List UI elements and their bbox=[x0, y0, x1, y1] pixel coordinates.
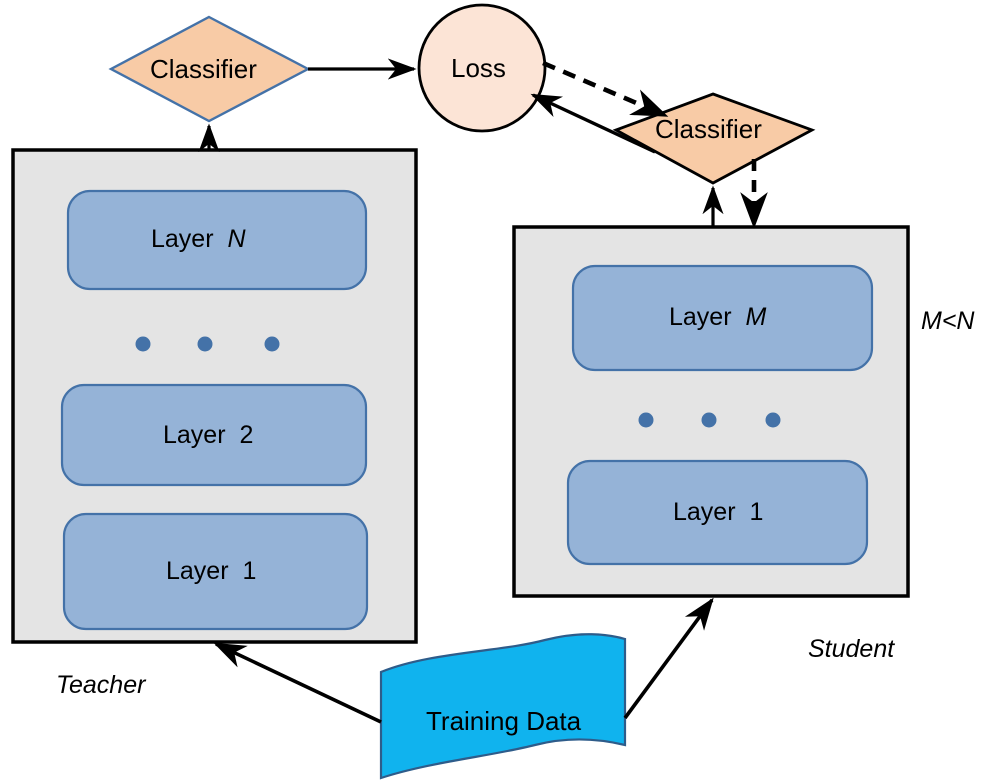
teacher-layer-label-N: LayerN bbox=[151, 227, 246, 252]
student-layer-name-M: Layer bbox=[669, 303, 732, 331]
teacher-layer-index-2: 2 bbox=[240, 421, 254, 449]
teacher-ellipsis-dot-2 bbox=[198, 337, 213, 352]
student-layer-index-1: 1 bbox=[750, 498, 764, 526]
teacher-layer-label-2: Layer2 bbox=[163, 423, 253, 448]
teacher-layer-name-N: Layer bbox=[151, 225, 214, 253]
teacher-ellipsis-dot-1 bbox=[136, 337, 151, 352]
diagram-canvas: Classifier Loss Classifier LayerN Layer2… bbox=[0, 0, 984, 782]
arrow-data-to-teacher bbox=[216, 644, 381, 722]
student-layer-name-1: Layer bbox=[673, 498, 736, 526]
arrow-data-to-student bbox=[625, 600, 712, 718]
student-ellipsis-dot-3 bbox=[766, 413, 781, 428]
student-ellipsis-dot-2 bbox=[702, 413, 717, 428]
training-data-label: Training Data bbox=[426, 708, 581, 734]
teacher-layer-label-1: Layer1 bbox=[166, 559, 256, 584]
teacher-layer-index-1: 1 bbox=[243, 557, 257, 585]
teacher-layer-name-1: Layer bbox=[166, 557, 229, 585]
teacher-name-label: Teacher bbox=[56, 673, 145, 698]
teacher-ellipsis-dot-3 bbox=[265, 337, 280, 352]
student-layer-label-M: LayerM bbox=[669, 305, 766, 330]
diagram-shapes bbox=[0, 0, 984, 782]
student-name-label: Student bbox=[808, 637, 894, 662]
student-classifier-label: Classifier bbox=[655, 116, 762, 142]
student-layer-index-M: M bbox=[746, 303, 767, 331]
teacher-layer-index-N: N bbox=[228, 225, 246, 253]
size-relation-label: M<N bbox=[921, 309, 974, 334]
loss-label: Loss bbox=[451, 55, 506, 81]
student-ellipsis-dot-1 bbox=[639, 413, 654, 428]
student-layer-label-1: Layer1 bbox=[673, 500, 763, 525]
teacher-layer-name-2: Layer bbox=[163, 421, 226, 449]
teacher-classifier-label: Classifier bbox=[150, 56, 257, 82]
